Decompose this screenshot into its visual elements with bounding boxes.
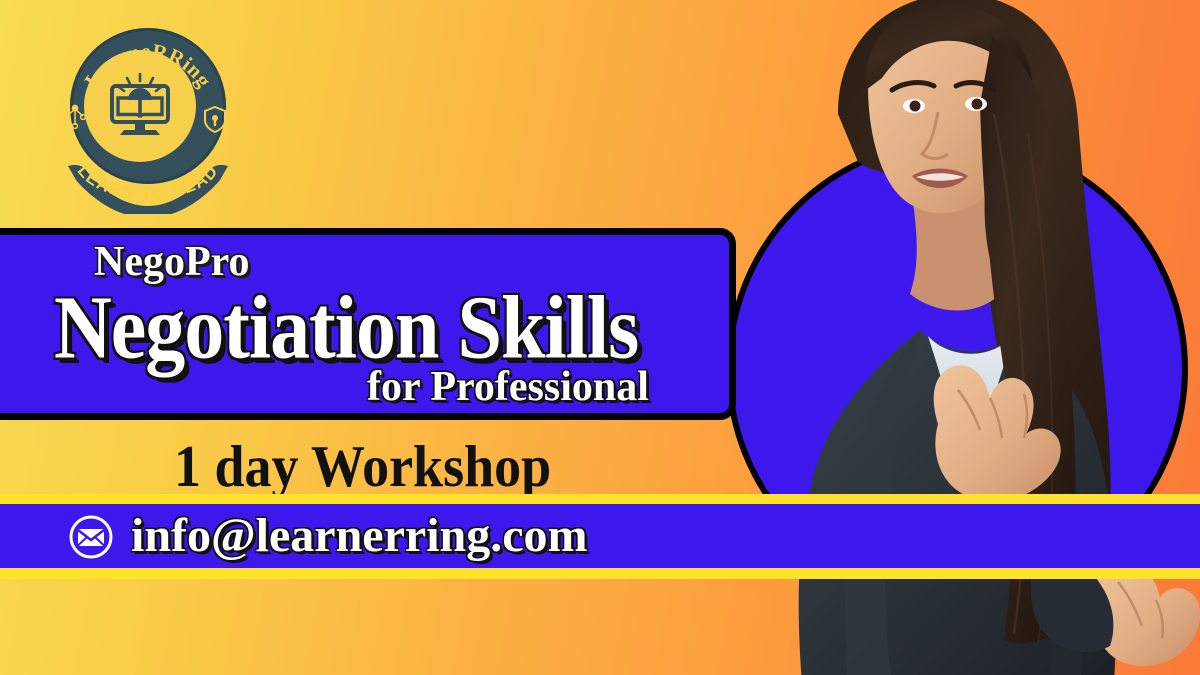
monitor-book-sun-icon [106, 72, 174, 140]
contact-email[interactable]: info@learnerring.com [131, 508, 588, 563]
title-subhead: for Professional [367, 363, 649, 411]
brand-logo: LearneRRing [62, 28, 234, 218]
logo-ribbon [62, 146, 234, 214]
email-bar-top-stripe [0, 494, 1200, 504]
email-bar-bottom-stripe [0, 568, 1200, 579]
workshop-duration-label: 1 day Workshop [174, 432, 551, 500]
shield-lock-icon [202, 104, 228, 134]
envelope-icon [68, 514, 114, 560]
promo-banner: LearneRRing [0, 0, 1200, 675]
network-node-icon [62, 102, 88, 132]
